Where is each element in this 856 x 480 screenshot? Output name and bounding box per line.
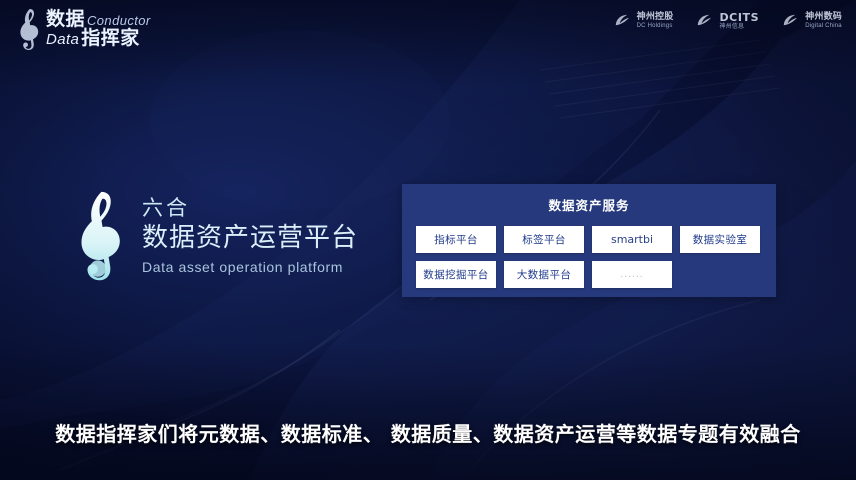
service-tile-grid: 指标平台 标签平台 smartbi 数据实验室 数据挖掘平台 大数据平台 ...… [402,214,776,288]
brand-wordmark: 数据 Conductor Data 指挥家 [46,10,151,49]
service-tile-indicator-platform[interactable]: 指标平台 [416,226,496,253]
partner-logo-group: 神州控股 DC Holdings DCITS 神州信息 神州数码 Digital… [613,12,842,31]
brand-en-secondary: Data [46,32,79,47]
partner-name-cn: DCITS [719,12,759,24]
partner-name-cn: 神州数码 [805,13,842,23]
service-tile-smartbi[interactable]: smartbi [592,226,672,253]
brand-logo: 数据 Conductor Data 指挥家 [16,6,151,52]
service-tile-more[interactable]: ...... [592,261,672,288]
brand-cn-secondary: 指挥家 [81,29,140,48]
partner-name-en: DC Holdings [637,23,674,29]
service-tile-data-mining-platform[interactable]: 数据挖掘平台 [416,261,496,288]
presentation-slide: 数据 Conductor Data 指挥家 神州控股 DC Holdings [0,0,856,480]
partner-logo-digital-china: 神州数码 Digital China [781,12,842,31]
product-title: 数据资产运营平台 [142,222,358,256]
swoosh-icon [781,12,800,31]
product-lockup: 六合 数据资产运营平台 Data asset operation platfor… [72,186,358,284]
data-asset-service-panel: 数据资产服务 指标平台 标签平台 smartbi 数据实验室 数据挖掘平台 大数… [402,184,776,297]
treble-clef-icon [16,7,42,51]
brand-en-primary: Conductor [87,14,151,27]
treble-clef-icon [72,186,128,284]
partner-logo-dc-holdings: 神州控股 DC Holdings [613,12,674,31]
product-kicker: 六合 [142,195,358,221]
swoosh-icon [613,12,632,31]
partner-name-en: 神州信息 [719,24,759,30]
partner-name-en: Digital China [805,23,842,29]
partner-logo-dcits: DCITS 神州信息 [695,12,759,31]
service-tile-big-data-platform[interactable]: 大数据平台 [504,261,584,288]
brand-cn-primary: 数据 [46,10,85,29]
service-tile-tag-platform[interactable]: 标签平台 [504,226,584,253]
product-subtitle: Data asset operation platform [142,259,358,275]
panel-title: 数据资产服务 [402,184,776,214]
swoosh-icon [695,12,714,31]
service-tile-data-lab[interactable]: 数据实验室 [680,226,760,253]
partner-name-cn: 神州控股 [637,13,674,23]
slide-caption: 数据指挥家们将元数据、数据标准、 数据质量、数据资产运营等数据专题有效融合 [0,418,856,447]
product-text: 六合 数据资产运营平台 Data asset operation platfor… [142,195,358,274]
